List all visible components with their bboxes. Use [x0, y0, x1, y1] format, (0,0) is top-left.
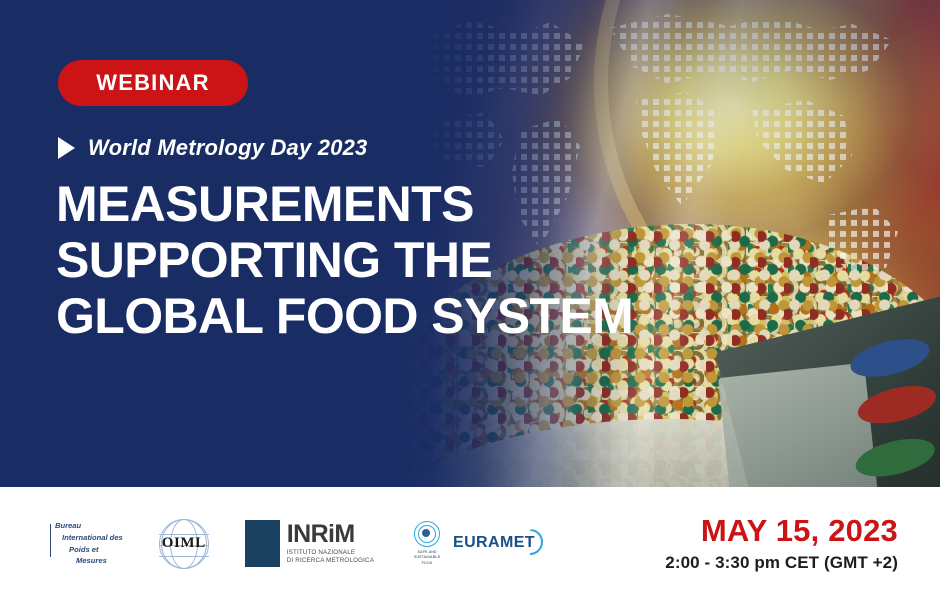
bipm-line-1: Bureau	[55, 520, 123, 532]
safe-food-seal-icon: SAFE AND SUSTAINABLE FOOD	[410, 521, 444, 566]
headline-line-2: SUPPORTING THE	[56, 232, 936, 288]
page-title: MEASUREMENTS SUPPORTING THE GLOBAL FOOD …	[56, 176, 936, 344]
inrim-subtitle-line-2: DI RICERCA METROLOGICA	[287, 557, 374, 565]
bipm-line-4: Mesures	[76, 555, 123, 567]
inrim-text-block: INRiM ISTITUTO NAZIONALE DI RICERCA METR…	[287, 520, 374, 567]
scale-plate	[718, 363, 880, 487]
bipm-rule-icon	[50, 524, 51, 557]
inrim-logo-text: INRiM	[287, 522, 374, 547]
euramet-wordmark: EURAMET	[453, 534, 535, 552]
concentric-rings-icon	[414, 521, 440, 547]
play-triangle-icon	[58, 137, 75, 159]
bipm-line-2: International des	[62, 532, 123, 544]
webinar-banner: WEBINAR World Metrology Day 2023 MEASURE…	[0, 0, 940, 600]
headline-line-3: GLOBAL FOOD SYSTEM	[56, 288, 936, 344]
event-date: MAY 15, 2023	[665, 514, 898, 548]
globe-latitude-icon	[159, 556, 209, 557]
bipm-marks-icon	[48, 520, 51, 557]
bipm-logo-text: Bureau International des Poids et Mesure…	[55, 520, 123, 566]
oiml-logo-text: OIML	[159, 535, 209, 552]
inrim-logo: INRiM ISTITUTO NAZIONALE DI RICERCA METR…	[245, 520, 374, 567]
bipm-line-3: Poids et	[69, 544, 123, 556]
inrim-square-icon	[245, 520, 280, 567]
event-kicker: World Metrology Day 2023	[58, 135, 367, 161]
euramet-logo: SAFE AND SUSTAINABLE FOOD EURAMET	[410, 521, 535, 566]
hero-section: WEBINAR World Metrology Day 2023 MEASURE…	[0, 0, 940, 487]
safe-food-seal-text: SAFE AND SUSTAINABLE FOOD	[410, 550, 444, 566]
oiml-logo: OIML	[159, 519, 209, 569]
webinar-badge: WEBINAR	[58, 60, 248, 106]
headline-line-1: MEASUREMENTS	[56, 176, 936, 232]
event-kicker-label: World Metrology Day 2023	[88, 135, 367, 161]
webinar-badge-label: WEBINAR	[96, 70, 210, 96]
inrim-subtitle: ISTITUTO NAZIONALE DI RICERCA METROLOGIC…	[287, 549, 374, 566]
footer-bar: Bureau International des Poids et Mesure…	[0, 487, 940, 600]
partner-logos: Bureau International des Poids et Mesure…	[0, 519, 535, 569]
inrim-subtitle-line-1: ISTITUTO NAZIONALE	[287, 549, 374, 557]
event-date-block: MAY 15, 2023 2:00 - 3:30 pm CET (GMT +2)	[665, 514, 940, 573]
event-time: 2:00 - 3:30 pm CET (GMT +2)	[665, 553, 898, 573]
bipm-logo: Bureau International des Poids et Mesure…	[48, 520, 123, 566]
euramet-logo-text: EURAMET	[453, 534, 535, 551]
seal-line-2: SUSTAINABLE FOOD	[410, 555, 444, 566]
